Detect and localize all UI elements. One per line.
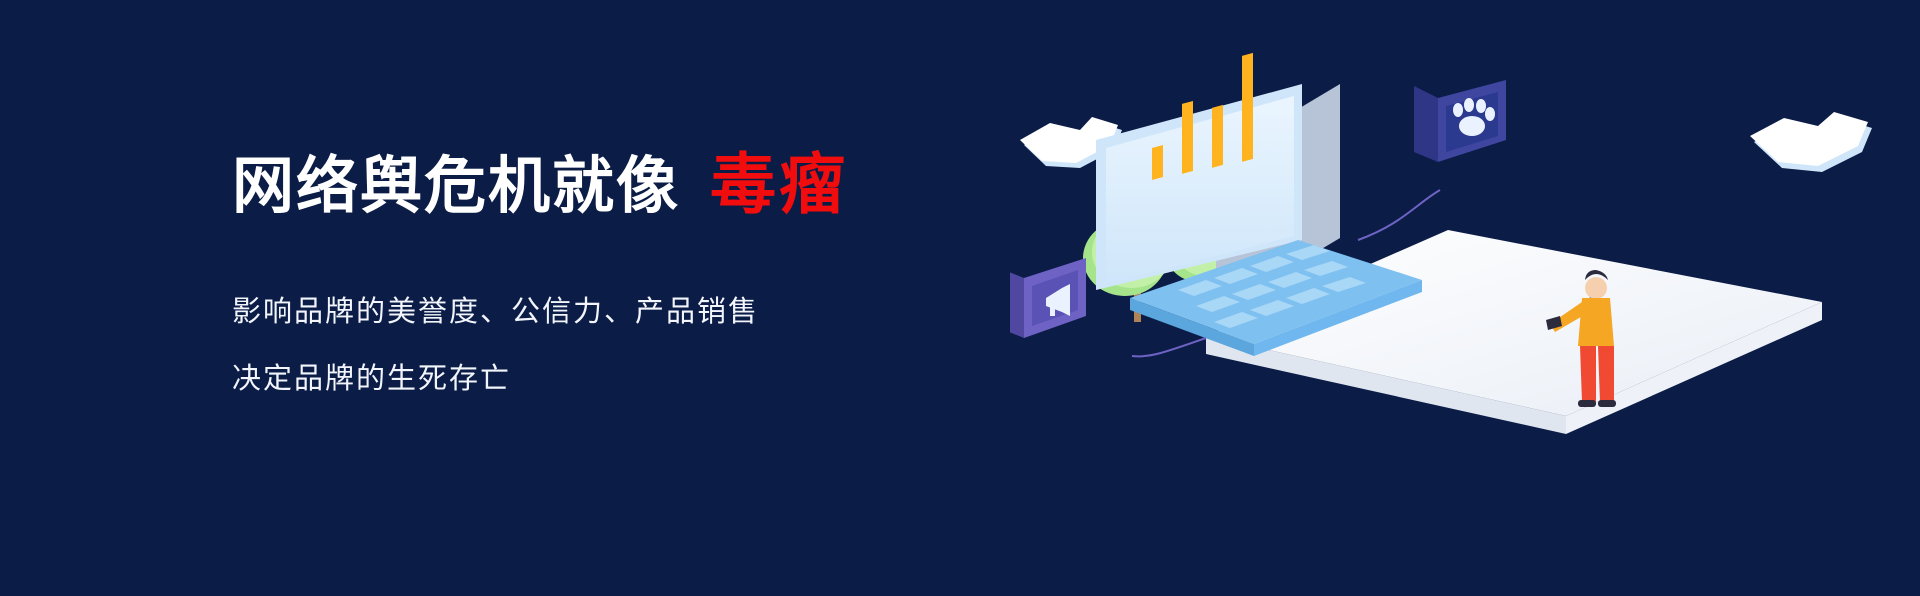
- panel-megaphone-icon: [1010, 258, 1086, 338]
- headline-accent-text: 毒瘤: [710, 150, 848, 219]
- subtitle-line-2: 决定品牌的生死存亡: [232, 364, 1052, 396]
- subtitle-line-1: 影响品牌的美誉度、公信力、产品销售: [232, 297, 1052, 329]
- page-title: 网络舆危机就像 毒瘤: [232, 150, 1052, 219]
- panel-paw-icon: [1414, 80, 1506, 162]
- headline-main-text: 网络舆危机就像: [232, 154, 680, 219]
- laptop: [1096, 53, 1422, 356]
- hero-banner: 网络舆危机就像 毒瘤 影响品牌的美誉度、公信力、产品销售 决定品牌的生死存亡: [0, 0, 1920, 596]
- cloud-right-icon: [1750, 112, 1872, 172]
- hero-illustration: [1010, 40, 1910, 560]
- text-block: 网络舆危机就像 毒瘤 影响品牌的美誉度、公信力、产品销售 决定品牌的生死存亡: [232, 150, 1052, 396]
